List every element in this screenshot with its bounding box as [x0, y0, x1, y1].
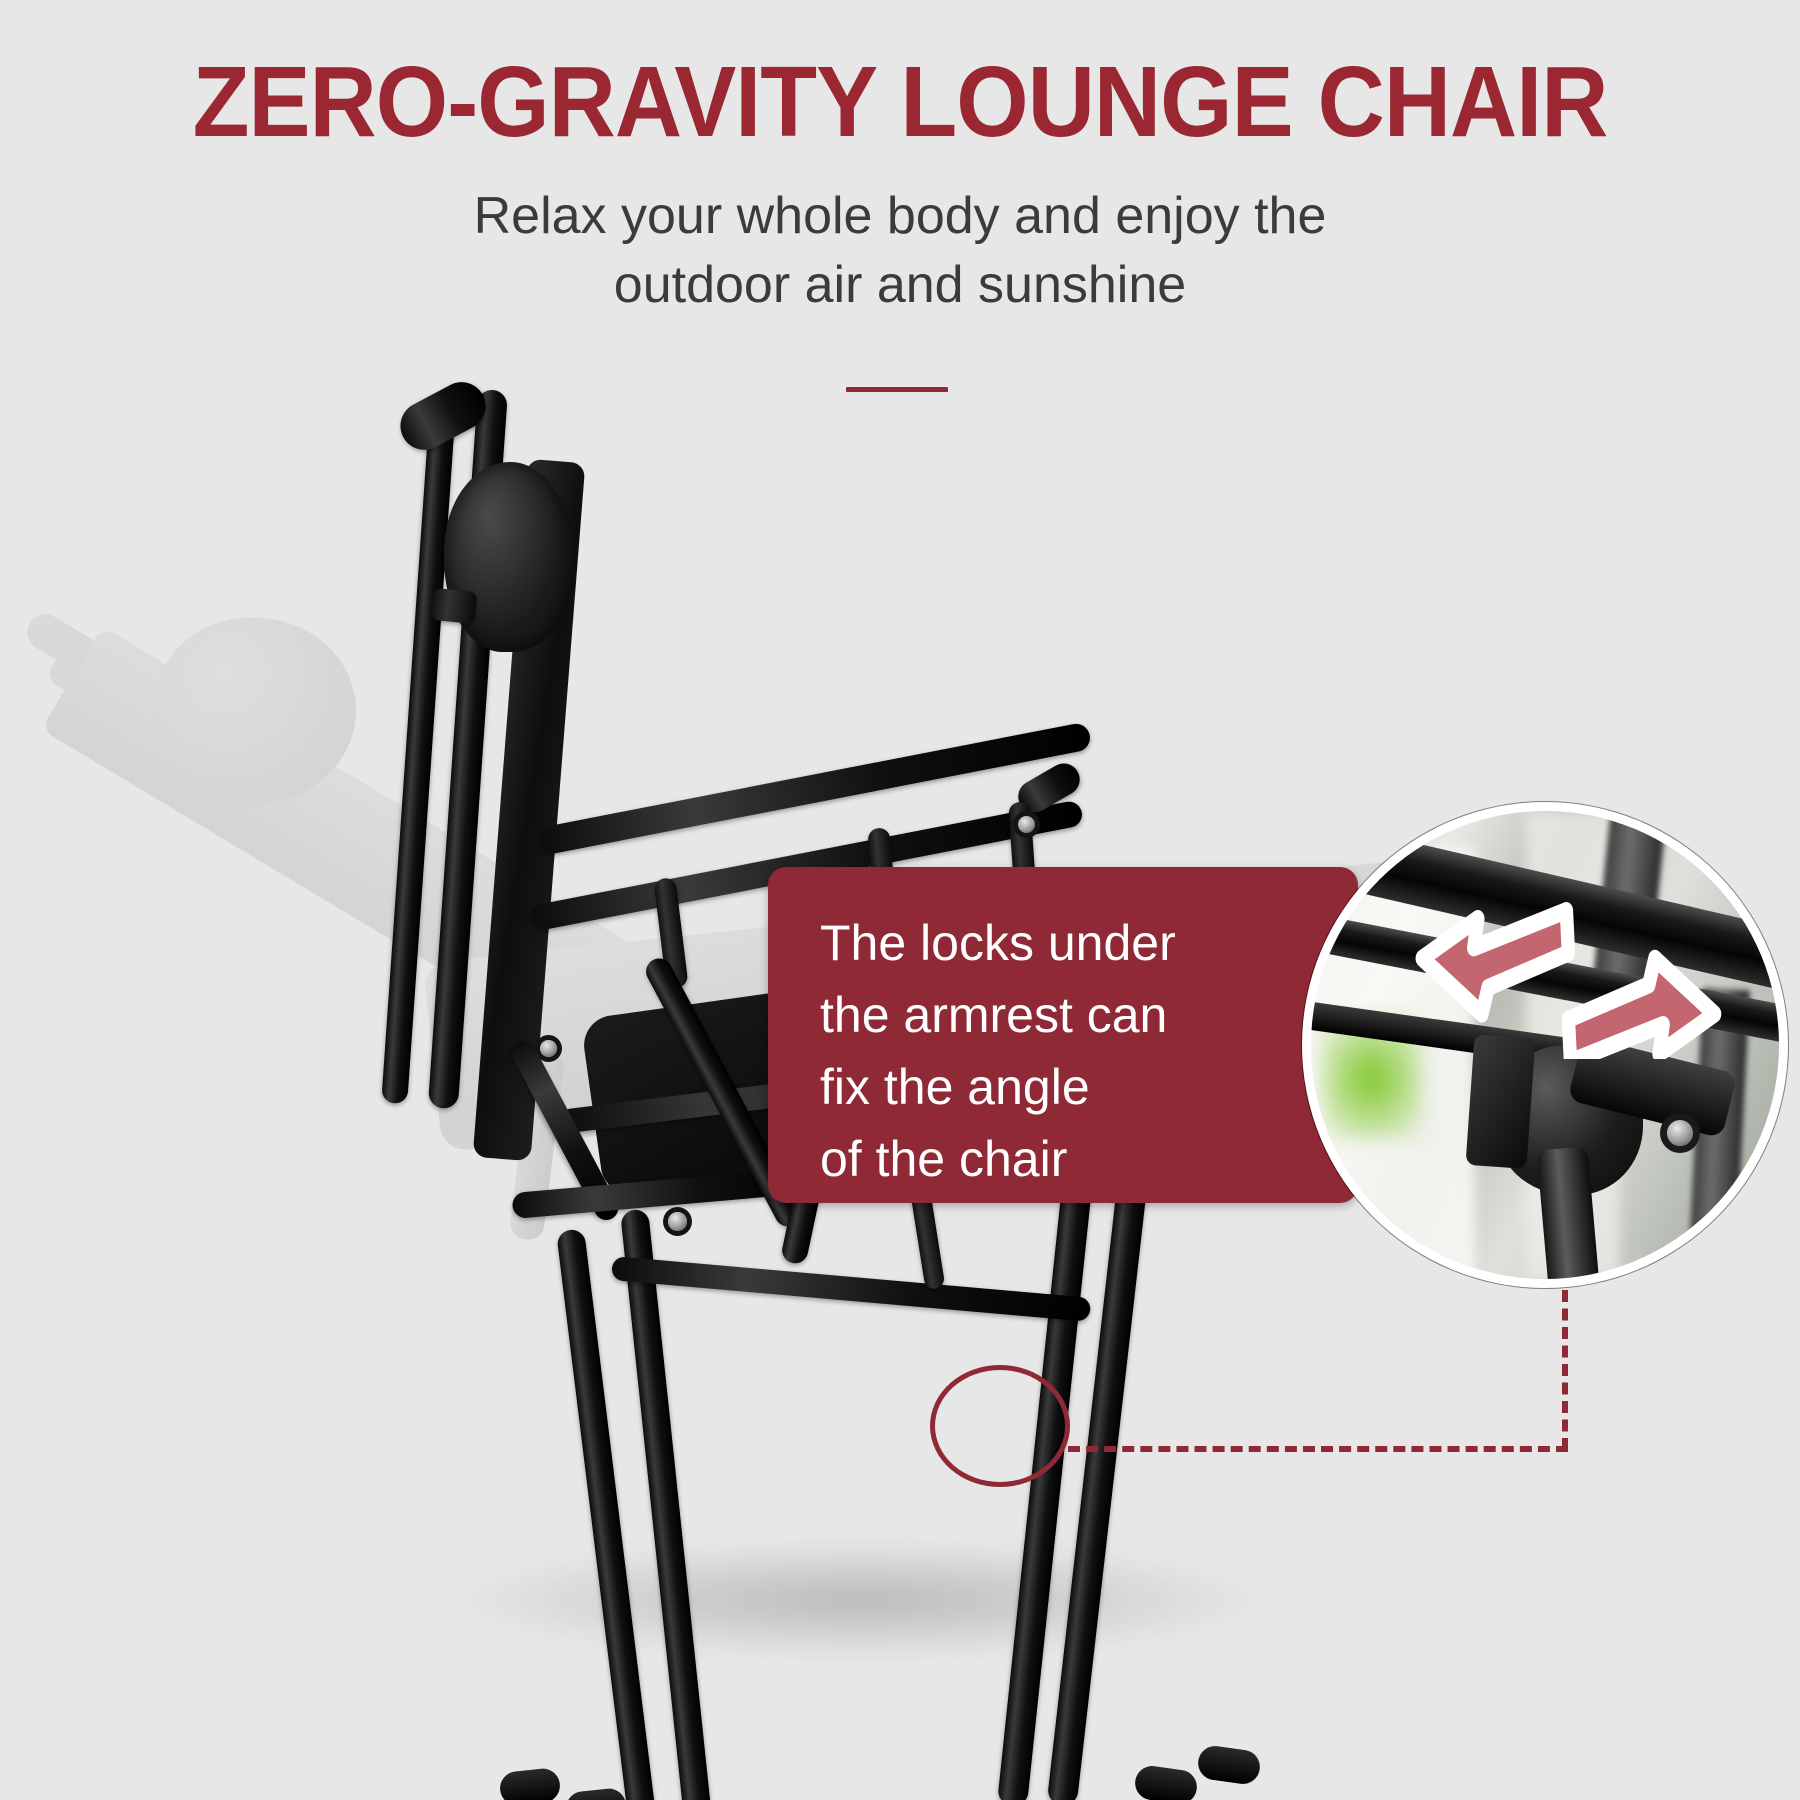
- product-image-stage: The locks under the armrest can fix the …: [0, 350, 1800, 1800]
- foot-rear-right: [1196, 1744, 1262, 1786]
- leader-line-horizontal: [1068, 1446, 1568, 1452]
- armrest-screw-rear: [540, 1040, 557, 1057]
- leader-line-vertical: [1562, 1290, 1568, 1450]
- callout-line-3: fix the angle: [820, 1051, 1340, 1123]
- headrest-pillow: [444, 462, 574, 652]
- callout-text: The locks under the armrest can fix the …: [820, 907, 1340, 1195]
- pillow-strap: [430, 588, 477, 624]
- subtitle-line-2: outdoor air and sunshine: [0, 251, 1800, 320]
- leg-cross-rail: [611, 1256, 1091, 1322]
- foot-rear-left: [1133, 1764, 1199, 1800]
- callout-line-4: of the chair: [820, 1123, 1340, 1195]
- callout-line-1: The locks under: [820, 907, 1340, 979]
- double-arrow-icon: [1414, 900, 1723, 1059]
- floor-shadow: [450, 1540, 1270, 1660]
- page-title: ZERO-GRAVITY LOUNGE CHAIR: [63, 52, 1737, 152]
- detail-inset-photo: [1311, 811, 1779, 1279]
- callout-line-2: the armrest can: [820, 979, 1340, 1051]
- foot-front-left: [498, 1767, 561, 1800]
- lock-pivot-screw: [1667, 1120, 1693, 1146]
- feature-callout-box: The locks under the armrest can fix the …: [768, 867, 1358, 1203]
- ghost-headrest-pillow: [156, 618, 356, 803]
- page-subtitle: Relax your whole body and enjoy the outd…: [0, 182, 1800, 319]
- lock-knob-highlight-ellipse: [930, 1365, 1070, 1487]
- detail-inset-circle: [1302, 802, 1788, 1288]
- foot-front-right: [564, 1787, 627, 1800]
- cross-brace-pivot-screw: [668, 1212, 687, 1231]
- armrest-screw-front: [1018, 816, 1035, 833]
- subtitle-line-1: Relax your whole body and enjoy the: [0, 182, 1800, 251]
